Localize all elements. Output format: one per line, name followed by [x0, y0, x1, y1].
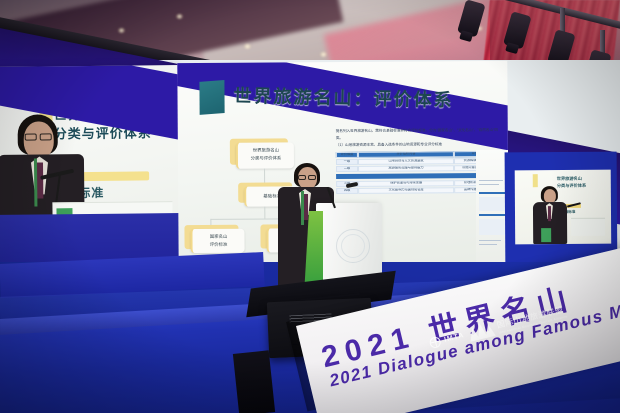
slide-paragraph: 提名列入世界旅游名山，需符合基础标准并符合评价标准，分为"国家名山"、"文化名山…: [336, 127, 502, 149]
dark-equipment-stand: [233, 350, 275, 413]
slide-paragraph-line2: （1）山地旅游资源丰富，具备入选条件的山地资源和专业评分标准: [336, 141, 502, 149]
table-cell: 二级: [336, 166, 358, 172]
necktie: [548, 206, 551, 221]
node-national-line1: 国家名山: [210, 234, 228, 239]
panel-blue-bar: [479, 192, 505, 194]
panel-text-line: [479, 184, 499, 185]
diagram-connector: [264, 207, 265, 219]
panel-text-line: [479, 240, 501, 241]
diagram-node-national: 国家名山 评价标准: [190, 229, 244, 253]
table-col-header: 评价维度: [336, 152, 358, 158]
node-root-line2: 分类与评价体系: [238, 154, 294, 162]
lanyard: [301, 191, 304, 225]
conference-stage-photo: 世界旅游名山 分类与评价体系 基础标准: [0, 0, 620, 413]
left-projection-screen: 世界旅游名山 分类与评价体系 基础标准: [0, 65, 181, 263]
glasses-icon: [25, 134, 37, 141]
table-cell: 文化影响力与国际知名度: [358, 187, 454, 194]
node-root-line1: 世界旅游名山: [253, 147, 279, 152]
table-cell: 山地自然与人文资源禀赋: [358, 158, 454, 165]
podium-green-accent-in-video: [541, 228, 551, 242]
side-content-panel: [476, 150, 508, 276]
glasses-icon: [308, 175, 316, 180]
lanyard: [34, 159, 38, 207]
table-cell: 一级: [336, 159, 358, 165]
right-screen-video-feed: 世界旅游名山 分类与评价体系 基础标准: [515, 170, 612, 245]
panel-text-line: [479, 244, 497, 245]
glasses-icon: [298, 175, 306, 180]
panel-block: [479, 197, 505, 211]
slide-paragraph-line1: 提名列入世界旅游名山，需符合基础标准并符合评价标准，分为"国家名山"、"文化名山…: [336, 127, 502, 142]
table-cell: 保护管理与可持续发展: [358, 180, 454, 187]
face: [544, 189, 556, 203]
necktie: [303, 194, 308, 220]
podium-emblem-icon: [336, 229, 370, 263]
globe-icon: [428, 335, 441, 348]
panel-blue-bar: [479, 214, 505, 216]
watermark-abbreviation: IMTA: [443, 332, 465, 344]
panel-block: [479, 219, 505, 235]
main-slide-title: 世界旅游名山：评价体系: [233, 82, 453, 113]
table-col-header: 评价指标内容: [358, 151, 454, 158]
podium-in-video: [571, 218, 605, 236]
right-screen-title-line1: 世界旅游名山: [557, 176, 582, 181]
teal-square-logo-icon: [199, 80, 224, 115]
glasses-icon: [40, 133, 52, 140]
left-screen-bottom-band: [0, 213, 181, 263]
panel-text-line: [479, 180, 503, 181]
node-national-line2: 评价标准: [193, 241, 245, 249]
table-cell: 旅游服务设施与接待能力: [358, 165, 454, 172]
table-cell: 四级: [336, 188, 358, 194]
